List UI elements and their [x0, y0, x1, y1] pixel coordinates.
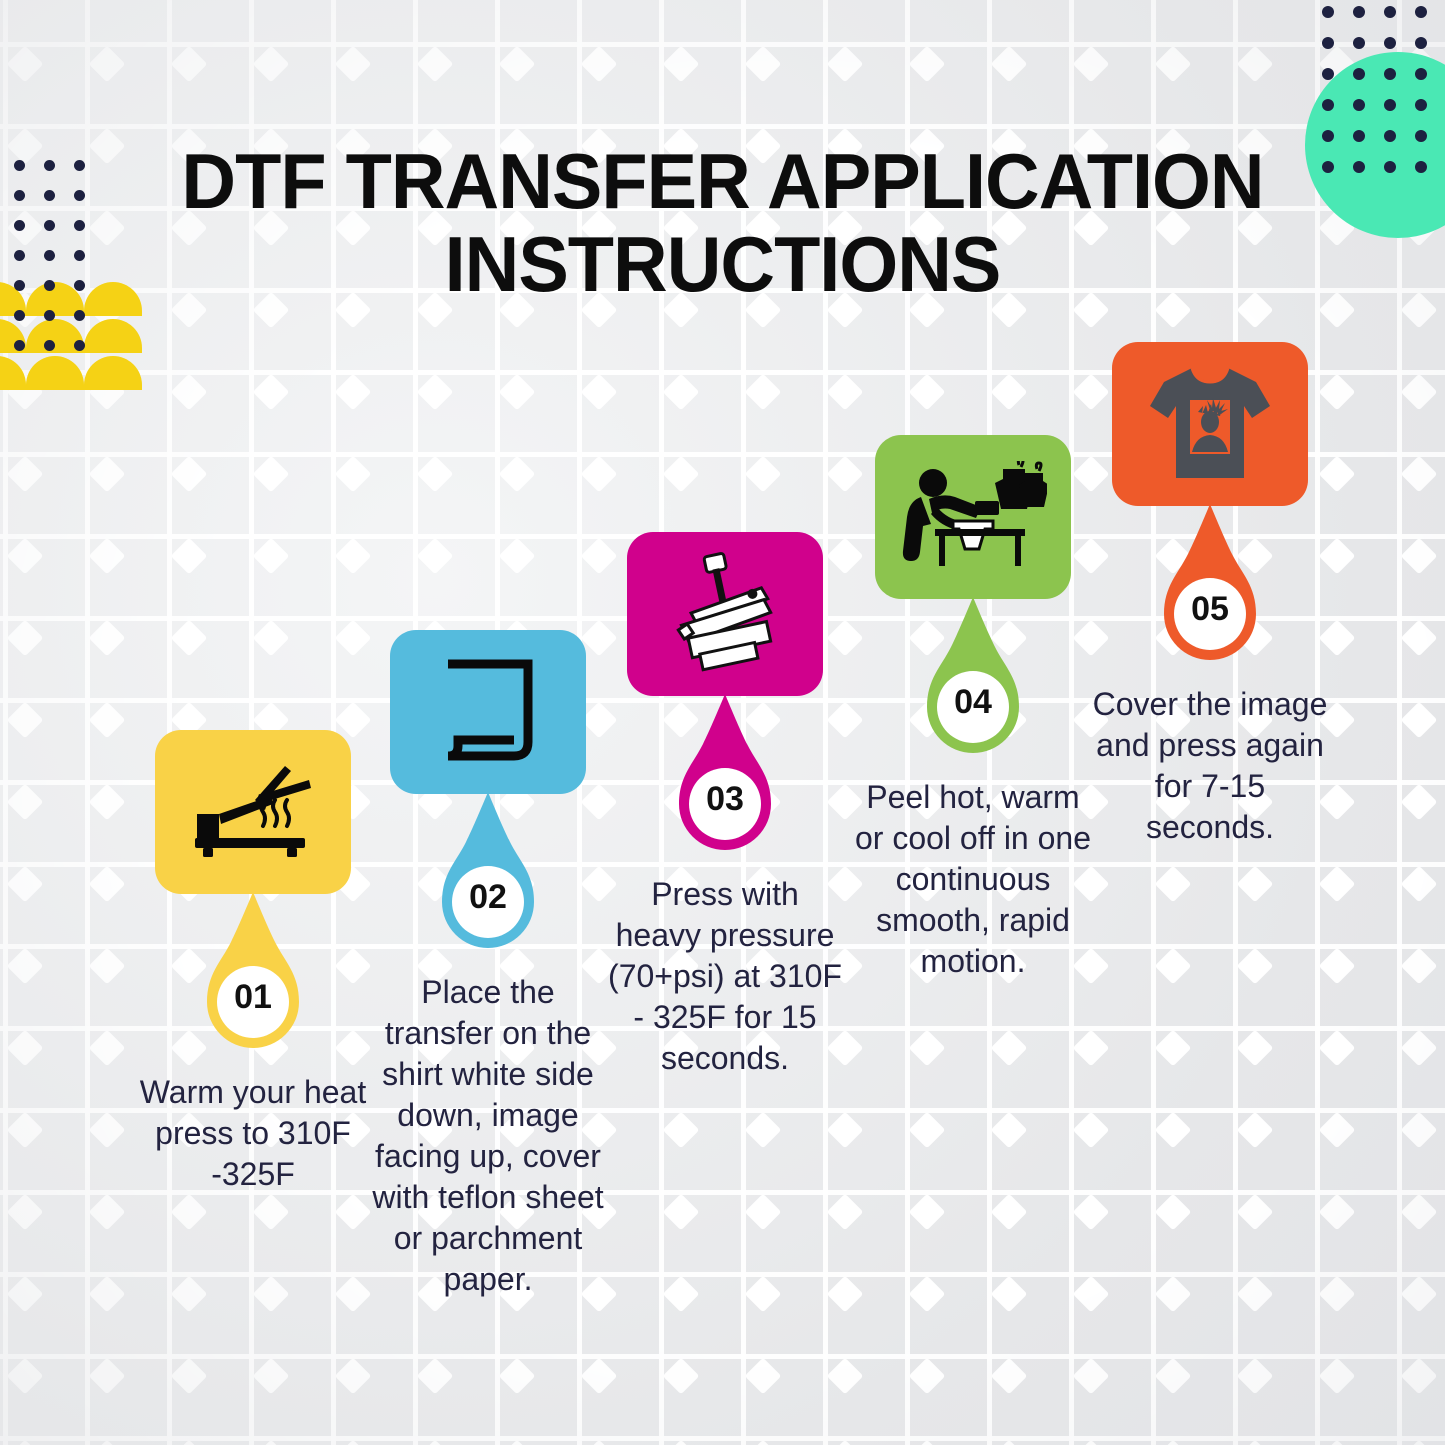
grid-node — [581, 456, 618, 493]
decorative-dot — [1353, 37, 1365, 49]
grid-node — [1155, 948, 1192, 985]
grid-node — [7, 1358, 44, 1395]
grid-node — [253, 1276, 290, 1313]
grid-node — [499, 1358, 536, 1395]
decorative-dot — [1415, 6, 1427, 18]
grid-node — [663, 1440, 700, 1445]
decorative-arch — [84, 319, 142, 353]
step-01-number: 01 — [155, 978, 351, 1017]
grid-node — [253, 620, 290, 657]
grid-node — [7, 456, 44, 493]
grid-node — [1155, 1276, 1192, 1313]
grid-node — [1401, 456, 1438, 493]
step-02-number-pin: 02 — [390, 794, 586, 966]
grid-node — [253, 46, 290, 83]
step-01-caption: Warm your heat press to 310F -325F — [128, 1072, 378, 1195]
grid-node — [827, 374, 864, 411]
grid-node — [7, 1112, 44, 1149]
grid-node — [253, 1194, 290, 1231]
grid-node — [581, 374, 618, 411]
step-04-number: 04 — [875, 683, 1071, 722]
decorative-arch — [0, 356, 26, 390]
step-03-caption: Press with heavy pressure (70+psi) at 31… — [600, 874, 850, 1079]
step-02-caption: Place the transfer on the shirt white si… — [363, 972, 613, 1300]
grid-node — [1237, 1030, 1274, 1067]
grid-node — [1401, 866, 1438, 903]
grid-node — [89, 866, 126, 903]
decorative-dot — [14, 340, 25, 351]
grid-node — [335, 1440, 372, 1445]
grid-node — [991, 1358, 1028, 1395]
grid-node — [1319, 1194, 1356, 1231]
page-title: DTF TRANSFER APPLICATION INSTRUCTIONS — [22, 140, 1424, 305]
grid-node — [89, 1440, 126, 1445]
step-05-caption: Cover the image and press again for 7-15… — [1085, 684, 1335, 848]
grid-node — [909, 46, 946, 83]
grid-node — [991, 1030, 1028, 1067]
decorative-arch — [84, 356, 142, 390]
decorative-dot — [74, 310, 85, 321]
grid-node — [1319, 866, 1356, 903]
grid-node — [253, 374, 290, 411]
grid-node — [253, 538, 290, 575]
grid-node — [1319, 1358, 1356, 1395]
infographic-canvas: DTF TRANSFER APPLICATION INSTRUCTIONS — [0, 0, 1445, 1445]
grid-node — [1401, 948, 1438, 985]
grid-node — [1155, 1440, 1192, 1445]
grid-node — [171, 1440, 208, 1445]
grid-node — [499, 46, 536, 83]
grid-node — [171, 456, 208, 493]
step-03-number-pin: 03 — [627, 696, 823, 868]
grid-node — [663, 1112, 700, 1149]
grid-node — [1401, 538, 1438, 575]
grid-node — [1319, 1112, 1356, 1149]
heat-press-machine-icon — [662, 550, 788, 678]
grid-node — [1401, 1112, 1438, 1149]
grid-node — [89, 702, 126, 739]
printed-tshirt-icon — [1142, 362, 1278, 486]
grid-node — [7, 948, 44, 985]
step-04-caption: Peel hot, warm or cool off in one contin… — [848, 777, 1098, 982]
decorative-dot — [1384, 6, 1396, 18]
step-01-number-pin: 01 — [155, 894, 351, 1066]
grid-node — [581, 1440, 618, 1445]
grid-node — [663, 374, 700, 411]
grid-node — [89, 620, 126, 657]
decorative-dot — [1322, 37, 1334, 49]
grid-node — [171, 1358, 208, 1395]
grid-node — [745, 456, 782, 493]
grid-node — [663, 1194, 700, 1231]
grid-node — [1401, 374, 1438, 411]
grid-node — [499, 538, 536, 575]
grid-node — [7, 784, 44, 821]
grid-node — [417, 46, 454, 83]
grid-node — [1237, 1112, 1274, 1149]
grid-node — [1155, 1030, 1192, 1067]
grid-node — [335, 46, 372, 83]
grid-node — [1237, 1358, 1274, 1395]
grid-node — [745, 1276, 782, 1313]
grid-node — [417, 1358, 454, 1395]
grid-node — [417, 1440, 454, 1445]
grid-node — [335, 374, 372, 411]
grid-node — [1073, 1440, 1110, 1445]
heat-press-open-icon — [189, 764, 317, 860]
grid-node — [1319, 1440, 1356, 1445]
grid-node — [745, 1358, 782, 1395]
grid-node — [335, 456, 372, 493]
grid-node — [499, 1440, 536, 1445]
grid-node — [417, 456, 454, 493]
grid-node — [991, 1440, 1028, 1445]
grid-node — [1401, 1030, 1438, 1067]
grid-node — [991, 1194, 1028, 1231]
grid-node — [7, 1440, 44, 1445]
grid-node — [89, 46, 126, 83]
grid-node — [89, 1358, 126, 1395]
grid-node — [1401, 620, 1438, 657]
grid-node — [909, 374, 946, 411]
step-05-number-pin: 05 — [1112, 506, 1308, 678]
decorative-dot — [14, 310, 25, 321]
grid-node — [89, 948, 126, 985]
grid-node — [171, 1194, 208, 1231]
grid-node — [7, 702, 44, 739]
grid-node — [1073, 1276, 1110, 1313]
grid-node — [1073, 1112, 1110, 1149]
grid-node — [89, 1112, 126, 1149]
grid-node — [1155, 1112, 1192, 1149]
grid-node — [827, 1440, 864, 1445]
grid-node — [1401, 1440, 1438, 1445]
grid-node — [1073, 1358, 1110, 1395]
grid-node — [1319, 1030, 1356, 1067]
grid-node — [171, 1276, 208, 1313]
step-05-icon-card[interactable] — [1112, 342, 1308, 506]
grid-node — [1155, 46, 1192, 83]
grid-node — [991, 46, 1028, 83]
step-03-icon-card[interactable] — [627, 532, 823, 696]
grid-node — [417, 538, 454, 575]
step-03-number: 03 — [627, 780, 823, 819]
grid-node — [1319, 948, 1356, 985]
grid-node — [171, 538, 208, 575]
grid-node — [1155, 1194, 1192, 1231]
grid-node — [1401, 1194, 1438, 1231]
grid-node — [7, 1276, 44, 1313]
step-01-icon-card[interactable] — [155, 730, 351, 894]
grid-node — [7, 1030, 44, 1067]
step-04-icon-card[interactable] — [875, 435, 1071, 599]
grid-node — [991, 1276, 1028, 1313]
grid-node — [663, 1358, 700, 1395]
grid-node — [335, 538, 372, 575]
grid-node — [7, 538, 44, 575]
grid-node — [1319, 1276, 1356, 1313]
grid-node — [1237, 1194, 1274, 1231]
grid-node — [171, 46, 208, 83]
decorative-arch — [0, 319, 26, 353]
grid-node — [253, 1440, 290, 1445]
grid-node — [745, 374, 782, 411]
grid-node — [1401, 1276, 1438, 1313]
grid-node — [7, 1194, 44, 1231]
grid-node — [89, 1276, 126, 1313]
grid-node — [89, 538, 126, 575]
step-02-icon-card[interactable] — [390, 630, 586, 794]
grid-node — [89, 1030, 126, 1067]
grid-node — [7, 866, 44, 903]
grid-node — [663, 456, 700, 493]
decorative-arch — [26, 319, 84, 353]
step-04: 04 Peel hot, warm or cool off in one con… — [848, 435, 1098, 982]
decorative-dot — [1353, 6, 1365, 18]
grid-node — [1073, 46, 1110, 83]
grid-node — [89, 784, 126, 821]
grid-node — [827, 1194, 864, 1231]
grid-node — [581, 46, 618, 83]
transfer-sheet-icon — [434, 656, 542, 768]
grid-node — [745, 1194, 782, 1231]
grid-node — [1073, 1030, 1110, 1067]
grid-node — [7, 46, 44, 83]
decorative-dot — [1322, 6, 1334, 18]
step-02: 02 Place the transfer on the shirt white… — [363, 630, 613, 1300]
decorative-dot — [44, 340, 55, 351]
grid-node — [1237, 1276, 1274, 1313]
step-05: 05 Cover the image and press again for 7… — [1085, 342, 1335, 848]
decorative-dot — [44, 310, 55, 321]
grid-node — [417, 374, 454, 411]
step-01: 01 Warm your heat press to 310F -325F — [128, 730, 378, 1195]
step-05-number: 05 — [1112, 590, 1308, 629]
grid-node — [827, 46, 864, 83]
grid-node — [663, 46, 700, 83]
grid-node — [581, 1358, 618, 1395]
grid-node — [827, 1112, 864, 1149]
grid-node — [745, 1440, 782, 1445]
step-02-number: 02 — [390, 878, 586, 917]
grid-node — [1237, 1440, 1274, 1445]
grid-node — [253, 456, 290, 493]
grid-node — [663, 1276, 700, 1313]
grid-node — [909, 1276, 946, 1313]
grid-node — [253, 1358, 290, 1395]
grid-node — [1401, 702, 1438, 739]
decorative-dot — [1415, 37, 1427, 49]
grid-node — [7, 374, 44, 411]
grid-node — [499, 456, 536, 493]
decorative-dot — [1384, 37, 1396, 49]
grid-node — [909, 1440, 946, 1445]
grid-node — [89, 1194, 126, 1231]
grid-node — [89, 374, 126, 411]
peeling-worker-icon — [899, 461, 1047, 573]
grid-node — [1401, 1358, 1438, 1395]
grid-node — [827, 1276, 864, 1313]
grid-node — [827, 1358, 864, 1395]
grid-node — [909, 1194, 946, 1231]
grid-node — [991, 1112, 1028, 1149]
grid-node — [335, 1358, 372, 1395]
grid-node — [499, 374, 536, 411]
grid-node — [991, 374, 1028, 411]
decorative-arch — [26, 356, 84, 390]
grid-node — [1155, 866, 1192, 903]
grid-node — [171, 620, 208, 657]
grid-node — [909, 1112, 946, 1149]
grid-node — [745, 1112, 782, 1149]
decorative-dot — [74, 340, 85, 351]
grid-node — [1237, 866, 1274, 903]
grid-node — [89, 456, 126, 493]
grid-node — [1237, 948, 1274, 985]
step-03: 03 Press with heavy pressure (70+psi) at… — [600, 532, 850, 1079]
grid-node — [1237, 46, 1274, 83]
grid-node — [1401, 784, 1438, 821]
grid-node — [171, 374, 208, 411]
grid-node — [1155, 1358, 1192, 1395]
grid-node — [745, 46, 782, 83]
step-04-number-pin: 04 — [875, 599, 1071, 771]
grid-node — [909, 1358, 946, 1395]
grid-node — [1073, 1194, 1110, 1231]
grid-node — [909, 1030, 946, 1067]
grid-node — [7, 620, 44, 657]
